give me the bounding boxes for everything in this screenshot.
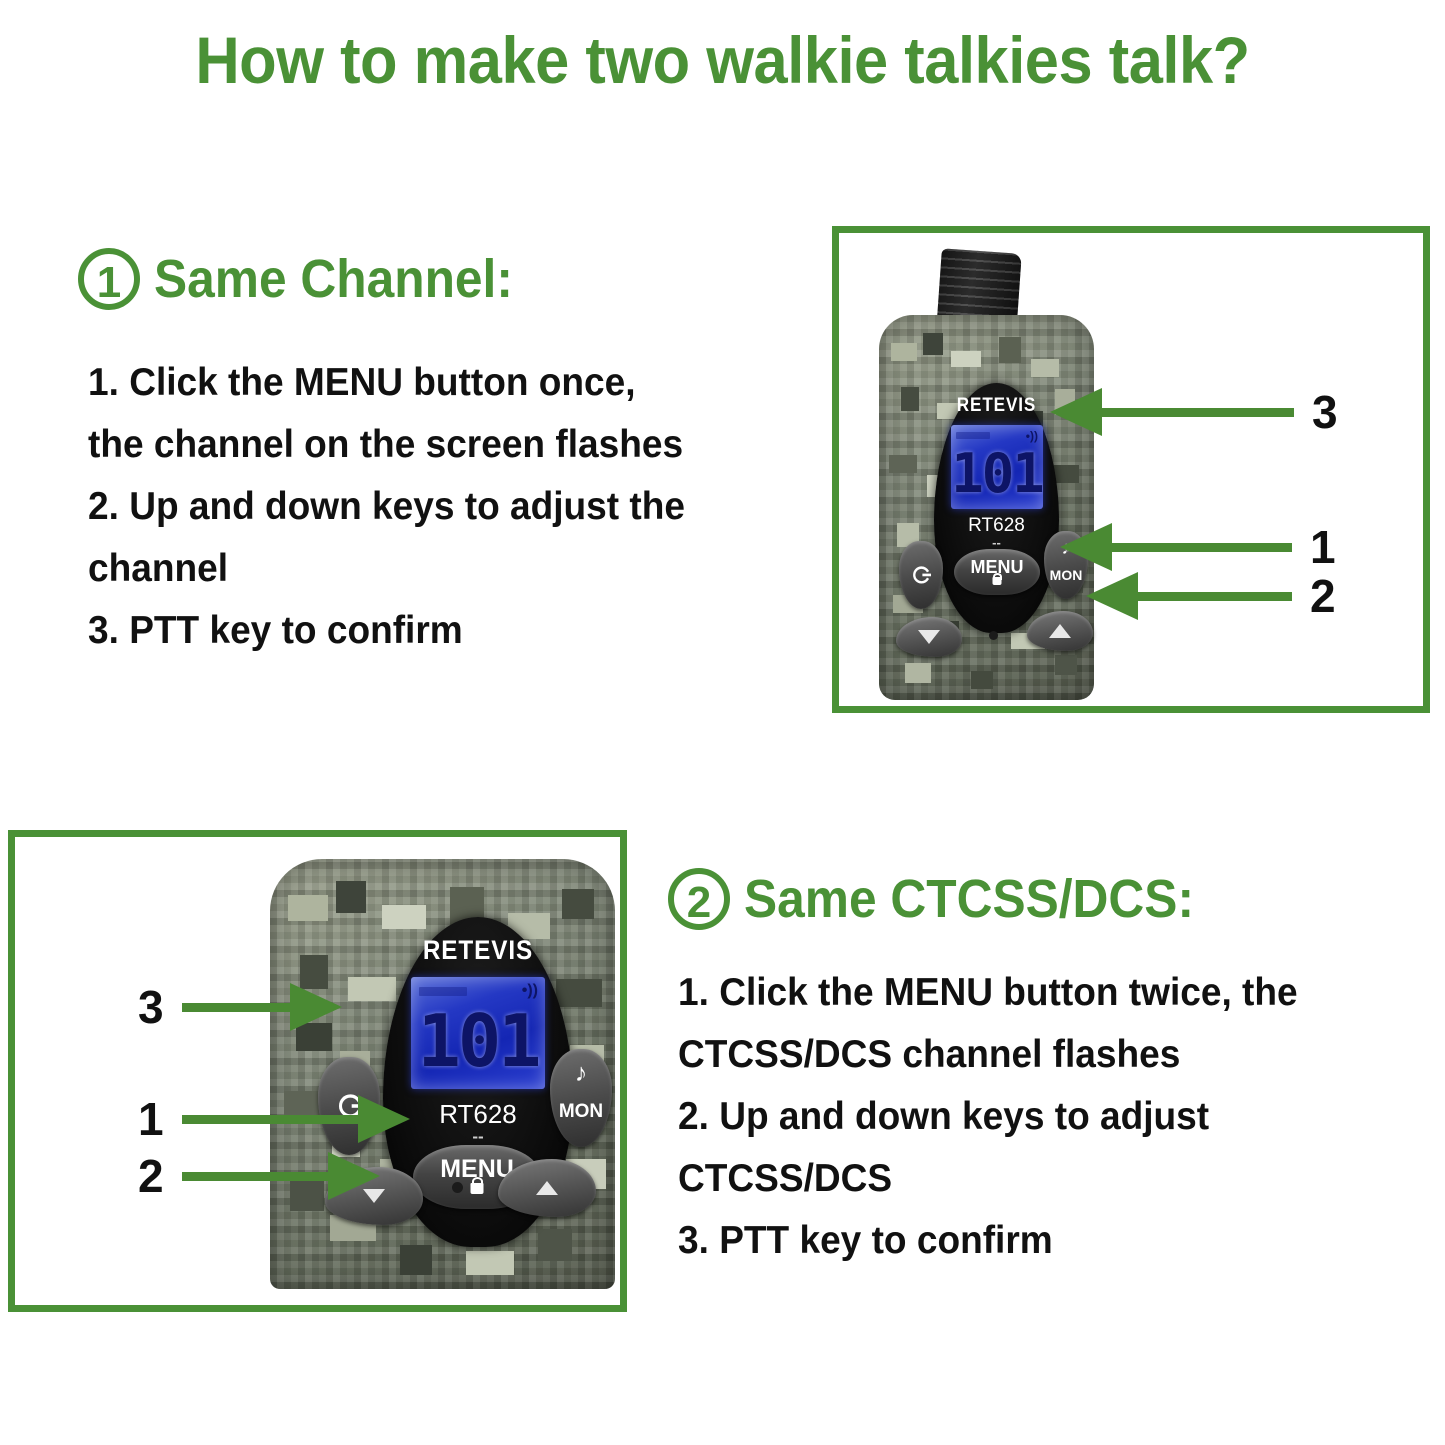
- menu-button[interactable]: MENU: [954, 549, 1040, 595]
- callout-1-top: 1: [1060, 523, 1336, 571]
- arrow-head-icon: [1060, 523, 1112, 571]
- model-dash: --: [934, 535, 1059, 550]
- chevron-up-icon: [1049, 624, 1071, 638]
- lcd-mode-bar: [419, 987, 467, 996]
- arrow-shaft: [182, 1172, 328, 1181]
- step-line: the channel on the screen flashes: [88, 414, 791, 476]
- model-dash: --: [383, 1127, 573, 1147]
- mon-button-label: MON: [550, 1101, 612, 1123]
- lcd-mode-bar: [956, 432, 990, 439]
- mic-hole: [989, 631, 998, 640]
- arrow-shaft: [1112, 543, 1292, 552]
- section-1-label: Same Channel:: [154, 248, 513, 310]
- callout-number: 2: [138, 1153, 164, 1199]
- music-note-icon: ♪: [575, 1061, 588, 1086]
- callout-3-top: 3: [1050, 388, 1338, 436]
- arrow-head-icon: [1050, 388, 1102, 436]
- lcd-screen: •)) 101: [411, 977, 545, 1089]
- callout-1-bottom: 1: [138, 1095, 410, 1143]
- page-title: How to make two walkie talkies talk?: [51, 22, 1395, 98]
- section-2-number: 2: [668, 868, 730, 930]
- step-line: CTCSS/DCS: [678, 1148, 1391, 1210]
- callout-number: 2: [1310, 573, 1336, 619]
- up-key[interactable]: [1027, 611, 1093, 651]
- section-1-heading: 1 Same Channel:: [78, 248, 544, 310]
- callout-number: 1: [138, 1096, 164, 1142]
- mic-hole: [452, 1182, 463, 1193]
- signal-waves-icon: •)): [1026, 429, 1038, 443]
- model-label: RT628: [383, 1099, 573, 1130]
- arrow-head-icon: [328, 1152, 380, 1200]
- brand-logo: RETEVIS: [393, 935, 564, 966]
- lock-icon: [993, 577, 1002, 585]
- step-line: 1. Click the MENU button twice, the: [678, 962, 1391, 1024]
- step-line: 3. PTT key to confirm: [678, 1210, 1391, 1272]
- step-line: 3. PTT key to confirm: [88, 600, 791, 662]
- arrow-head-icon: [358, 1095, 410, 1143]
- step-line: CTCSS/DCS channel flashes: [678, 1024, 1391, 1086]
- photo-frame-bottom: RETEVIS •)) 101 RT628 -- MENU ⏻ ♪ MON: [8, 830, 627, 1312]
- callout-3-bottom: 3: [138, 983, 342, 1031]
- down-key[interactable]: [896, 617, 962, 657]
- chevron-down-icon: [918, 630, 940, 644]
- section-2-label: Same CTCSS/DCS:: [744, 868, 1194, 930]
- model-label: RT628: [934, 515, 1059, 537]
- arrow-shaft: [182, 1003, 290, 1012]
- step-line: 1. Click the MENU button once,: [88, 352, 791, 414]
- section-1-steps: 1. Click the MENU button once, the chann…: [88, 352, 828, 662]
- section-1-number: 1: [78, 248, 140, 310]
- step-line: channel: [88, 538, 791, 600]
- section-2-heading: 2 Same CTCSS/DCS:: [668, 868, 1233, 930]
- step-line: 2. Up and down keys to adjust: [678, 1086, 1391, 1148]
- section-2-steps: 1. Click the MENU button twice, the CTCS…: [678, 962, 1428, 1272]
- callout-number: 3: [138, 984, 164, 1030]
- signal-waves-icon: •)): [522, 982, 538, 1000]
- walkie-talkie-top: RETEVIS •)) 101 RT628 -- MENU ⏻ ♪ MON: [839, 233, 1430, 713]
- callout-2-top: 2: [1086, 572, 1336, 620]
- arrow-shaft: [1138, 592, 1292, 601]
- callout-2-bottom: 2: [138, 1152, 380, 1200]
- callout-number: 3: [1312, 389, 1338, 435]
- lcd-channel-value: 101: [951, 442, 1043, 505]
- lcd-channel-value: 101: [411, 999, 545, 1083]
- callout-number: 1: [1310, 524, 1336, 570]
- lock-icon: [471, 1183, 484, 1194]
- step-line: 2. Up and down keys to adjust the: [88, 476, 791, 538]
- walkie-talkie-bottom: RETEVIS •)) 101 RT628 -- MENU ⏻ ♪ MON: [15, 837, 627, 1312]
- arrow-head-icon: [290, 983, 342, 1031]
- arrow-shaft: [1102, 408, 1294, 417]
- chevron-up-icon: [536, 1181, 558, 1195]
- power-icon: ⏻: [910, 566, 932, 583]
- photo-frame-top: RETEVIS •)) 101 RT628 -- MENU ⏻ ♪ MON: [832, 226, 1430, 713]
- arrow-shaft: [182, 1115, 358, 1124]
- arrow-head-icon: [1086, 572, 1138, 620]
- lcd-screen: •)) 101: [951, 425, 1043, 509]
- brand-logo: RETEVIS: [940, 395, 1053, 417]
